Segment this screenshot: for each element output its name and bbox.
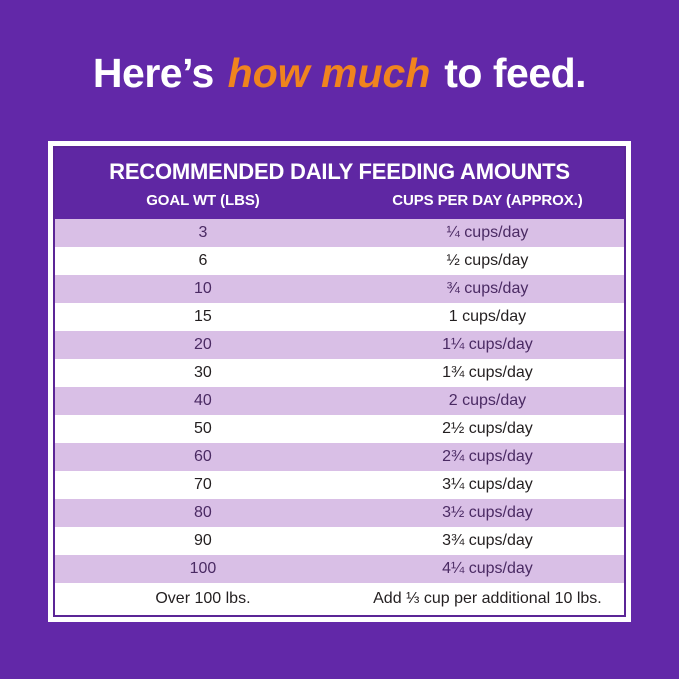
cell-goal-wt: 10 xyxy=(55,279,351,299)
table-row: 40 2 cups/day xyxy=(55,387,624,415)
cell-cups: 3¼ cups/day xyxy=(351,475,624,495)
table-row: 10 ¾ cups/day xyxy=(55,275,624,303)
feeding-table-frame: RECOMMENDED DAILY FEEDING AMOUNTS GOAL W… xyxy=(48,141,631,622)
table-row: 50 2½ cups/day xyxy=(55,415,624,443)
cell-cups-over: Add ⅓ cup per additional 10 lbs. xyxy=(351,589,624,609)
cell-goal-wt: 6 xyxy=(55,251,351,271)
cell-cups: 1¾ cups/day xyxy=(351,363,624,383)
cell-cups: 2¾ cups/day xyxy=(351,447,624,467)
table-footer-row: Over 100 lbs. Add ⅓ cup per additional 1… xyxy=(55,583,624,615)
column-header-goal-wt: GOAL WT (LBS) xyxy=(55,191,351,210)
cell-goal-wt: 100 xyxy=(55,559,351,579)
cell-goal-wt: 40 xyxy=(55,391,351,411)
table-row: 30 1¾ cups/day xyxy=(55,359,624,387)
page-title-part1: Here’s xyxy=(93,50,214,96)
cell-goal-wt: 90 xyxy=(55,531,351,551)
cell-cups: ¼ cups/day xyxy=(351,223,624,243)
cell-goal-wt: 60 xyxy=(55,447,351,467)
table-row: 3 ¼ cups/day xyxy=(55,219,624,247)
cell-goal-wt: 70 xyxy=(55,475,351,495)
table-row: 80 3½ cups/day xyxy=(55,499,624,527)
page-title-part2: to feed. xyxy=(444,50,586,96)
cell-cups: ¾ cups/day xyxy=(351,279,624,299)
cell-goal-wt: 20 xyxy=(55,335,351,355)
feeding-table: RECOMMENDED DAILY FEEDING AMOUNTS GOAL W… xyxy=(53,146,626,617)
cell-cups: 1 cups/day xyxy=(351,307,624,327)
cell-goal-wt: 3 xyxy=(55,223,351,243)
table-title: RECOMMENDED DAILY FEEDING AMOUNTS xyxy=(55,158,624,185)
table-column-headers: GOAL WT (LBS) CUPS PER DAY (APPROX.) xyxy=(55,191,624,210)
cell-goal-wt: 15 xyxy=(55,307,351,327)
table-row: 6 ½ cups/day xyxy=(55,247,624,275)
feeding-chart-page: Here’s how much to feed. RECOMMENDED DAI… xyxy=(0,0,679,679)
cell-cups: 1¼ cups/day xyxy=(351,335,624,355)
cell-cups: 4¼ cups/day xyxy=(351,559,624,579)
table-row: 90 3¾ cups/day xyxy=(55,527,624,555)
table-row: 15 1 cups/day xyxy=(55,303,624,331)
cell-goal-wt: 80 xyxy=(55,503,351,523)
table-row: 100 4¼ cups/day xyxy=(55,555,624,583)
cell-goal-wt-over: Over 100 lbs. xyxy=(55,589,351,609)
cell-cups: ½ cups/day xyxy=(351,251,624,271)
table-header: RECOMMENDED DAILY FEEDING AMOUNTS GOAL W… xyxy=(55,148,624,219)
page-title: Here’s how much to feed. xyxy=(0,49,679,97)
cell-cups: 2½ cups/day xyxy=(351,419,624,439)
cell-cups: 3½ cups/day xyxy=(351,503,624,523)
page-title-accent: how much xyxy=(225,50,434,96)
cell-cups: 2 cups/day xyxy=(351,391,624,411)
table-row: 60 2¾ cups/day xyxy=(55,443,624,471)
table-body: 3 ¼ cups/day 6 ½ cups/day 10 ¾ cups/day … xyxy=(55,219,624,615)
table-row: 70 3¼ cups/day xyxy=(55,471,624,499)
cell-cups: 3¾ cups/day xyxy=(351,531,624,551)
table-row: 20 1¼ cups/day xyxy=(55,331,624,359)
cell-goal-wt: 30 xyxy=(55,363,351,383)
cell-goal-wt: 50 xyxy=(55,419,351,439)
column-header-cups-per-day: CUPS PER DAY (APPROX.) xyxy=(351,191,624,210)
